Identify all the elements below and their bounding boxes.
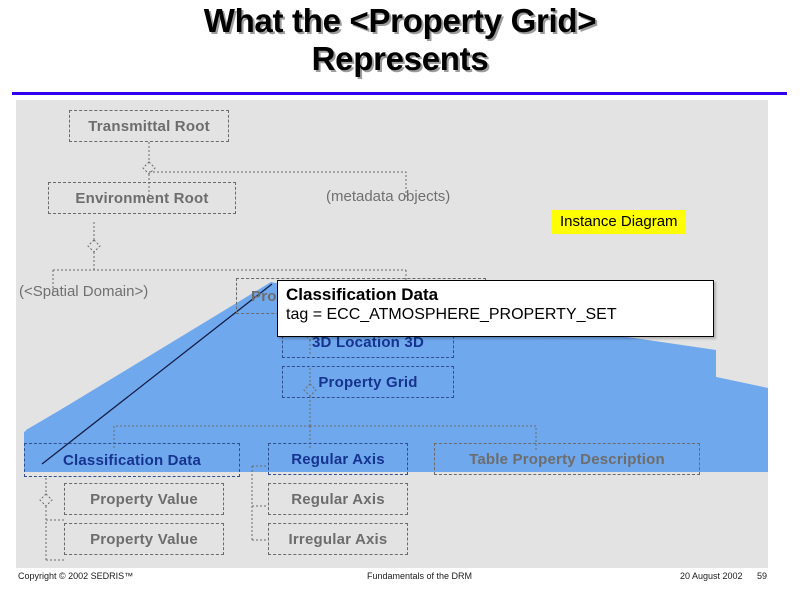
- tooltip-body: tag = ECC_ATMOSPHERE_PROPERTY_SET: [286, 305, 705, 324]
- callout-instance-diagram: Instance Diagram: [552, 210, 686, 234]
- slide-title: What the <Property Grid> Represents: [0, 2, 800, 78]
- node-environment-root[interactable]: Environment Root: [48, 182, 236, 214]
- tooltip-title: Classification Data: [286, 285, 705, 305]
- label-metadata-objects: (metadata objects): [326, 188, 450, 205]
- page-title-line-2: Represents: [0, 40, 800, 78]
- node-regular-axis-2[interactable]: Regular Axis: [268, 483, 408, 515]
- node-table-property-description[interactable]: Table Property Description: [434, 443, 700, 475]
- node-property-value-1[interactable]: Property Value: [64, 483, 224, 515]
- node-classification-data[interactable]: Classification Data: [24, 443, 240, 477]
- node-regular-axis-1[interactable]: Regular Axis: [268, 443, 408, 475]
- node-irregular-axis[interactable]: Irregular Axis: [268, 523, 408, 555]
- node-property-value-2[interactable]: Property Value: [64, 523, 224, 555]
- footer-subject: Fundamentals of the DRM: [367, 571, 472, 581]
- node-transmittal-root[interactable]: Transmittal Root: [69, 110, 229, 142]
- footer-copyright: Copyright © 2002 SEDRIS™: [18, 571, 133, 581]
- tooltip-classification-data: Classification Data tag = ECC_ATMOSPHERE…: [277, 280, 714, 337]
- instance-diagram-panel: Transmittal Root Environment Root (metad…: [16, 100, 768, 568]
- node-property-grid[interactable]: Property Grid: [282, 366, 454, 398]
- page-title-line-1: What the <Property Grid>: [0, 2, 800, 40]
- label-spatial-domain: (<Spatial Domain>): [19, 283, 148, 300]
- footer-page-number: 59: [757, 571, 767, 581]
- title-divider-rule: [12, 92, 787, 95]
- slide-footer: Copyright © 2002 SEDRIS™ Fundamentals of…: [0, 571, 800, 591]
- footer-date: 20 August 2002: [680, 571, 743, 581]
